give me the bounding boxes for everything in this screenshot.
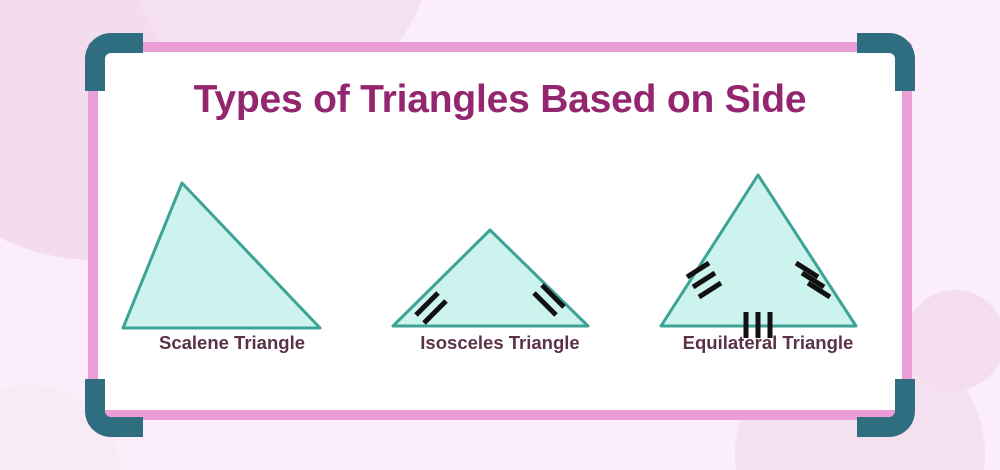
decor-circle-bottom-right-small bbox=[905, 290, 1000, 390]
infographic-canvas: Types of Triangles Based on Side Scalene… bbox=[0, 0, 1000, 470]
scalene-triangle-shape bbox=[98, 160, 366, 340]
isosceles-triangle-shape bbox=[366, 160, 634, 340]
figure-label-equilateral: Equilateral Triangle bbox=[634, 332, 902, 354]
figure-scalene-triangle: Scalene Triangle bbox=[98, 160, 366, 375]
figure-equilateral-triangle: Equilateral Triangle bbox=[634, 160, 902, 375]
corner-bracket-bottom-left-icon bbox=[85, 379, 143, 437]
figure-row: Scalene Triangle Isosceles Triangle bbox=[98, 160, 902, 375]
equilateral-triangle-shape bbox=[634, 160, 902, 340]
page-title: Types of Triangles Based on Side bbox=[0, 78, 1000, 122]
corner-bracket-bottom-right-icon bbox=[857, 379, 915, 437]
figure-label-scalene: Scalene Triangle bbox=[98, 332, 366, 354]
figure-isosceles-triangle: Isosceles Triangle bbox=[366, 160, 634, 375]
figure-label-isosceles: Isosceles Triangle bbox=[366, 332, 634, 354]
